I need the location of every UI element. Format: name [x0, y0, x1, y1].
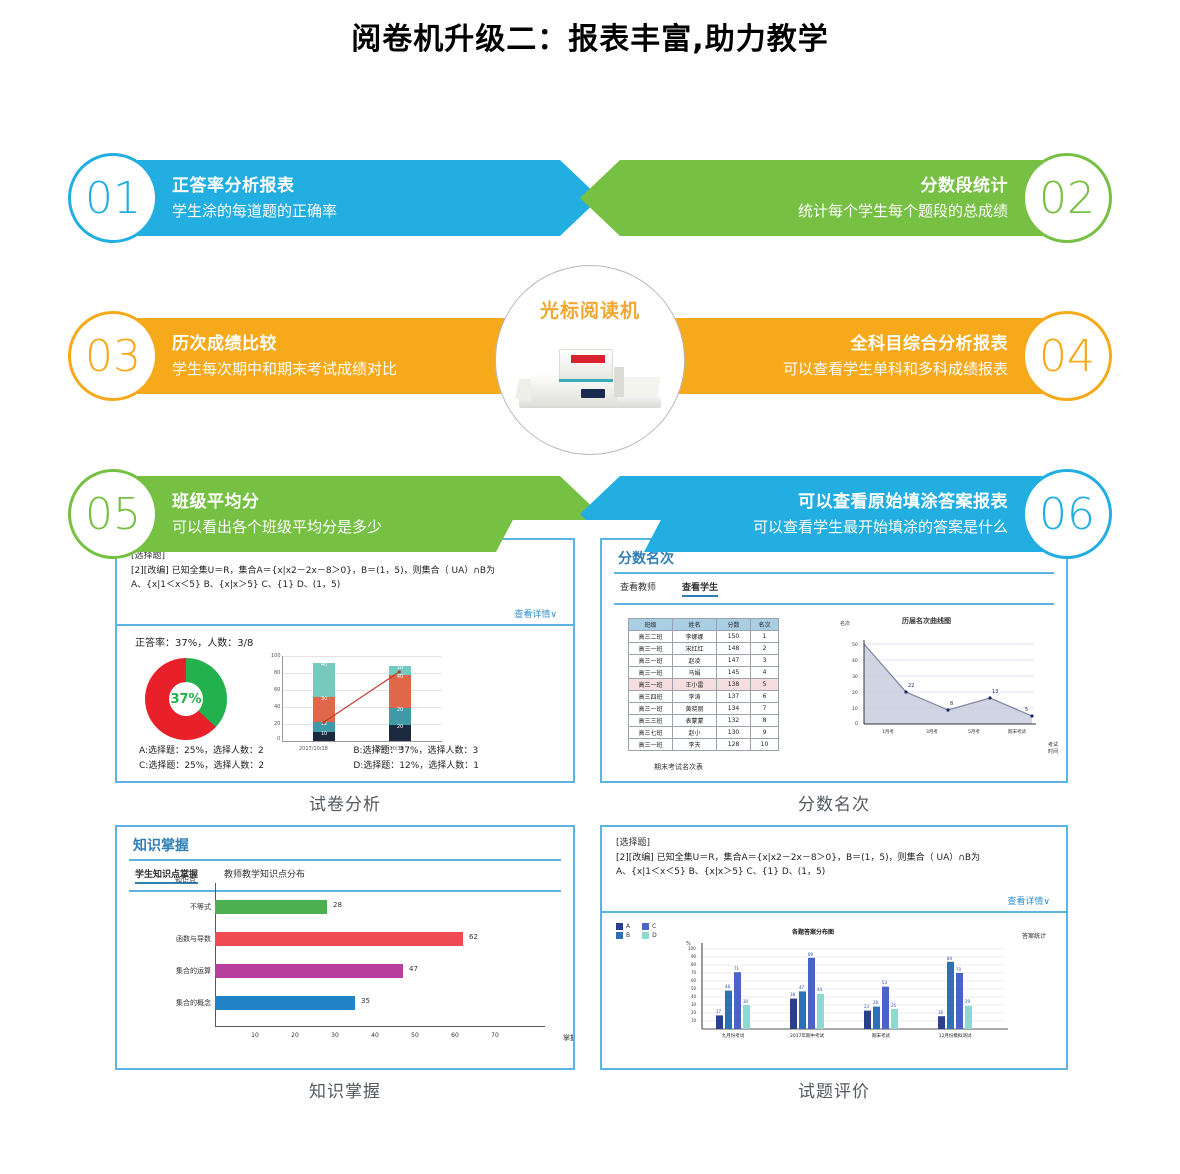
bar-label-3: 集合的概念	[137, 998, 211, 1008]
trend-line	[283, 656, 442, 741]
panel-knowledge-mastery[interactable]: 知识掌握 学生知识点掌握 教师教学知识点分布 知识点 不等式 28 函数与导数 …	[115, 825, 575, 1102]
option-d: D:选择题：12%，选择人数：1	[353, 759, 567, 774]
donut-chart: 37%	[145, 658, 227, 740]
svg-text:53: 53	[882, 980, 888, 985]
bar-fill-3	[215, 996, 355, 1010]
table-row: 高三一班马娟1454	[629, 667, 779, 679]
panel-caption-knowledge-mastery: 知识掌握	[115, 1077, 575, 1102]
view-detail-link[interactable]: 查看详情∨	[514, 607, 557, 620]
svg-text:38: 38	[790, 992, 796, 997]
option-row: C:选择题：25%，选择人数：2 D:选择题：12%，选择人数：1	[139, 759, 568, 774]
svg-text:70: 70	[691, 970, 697, 975]
feature-number-01: 01	[68, 153, 158, 243]
svg-text:71: 71	[734, 966, 740, 971]
svg-text:0: 0	[855, 721, 858, 727]
area-x-label: 考试时间	[1048, 741, 1058, 755]
svg-text:5月考: 5月考	[968, 729, 980, 735]
svg-text:12月份模拟测试: 12月份模拟测试	[939, 1032, 972, 1039]
screenshot-paper-analysis: [选择题] [2][改编] 已知全集U＝R，集合A＝{x|x2－2x－8＞0}，…	[115, 538, 575, 783]
bar-row-1: 函数与导数 62	[215, 929, 545, 955]
view-detail-link[interactable]: 查看详情∨	[1007, 894, 1050, 907]
th-rank: 名次	[751, 619, 779, 631]
bar-value-2: 47	[409, 965, 418, 973]
table-caption: 期末考试名次表	[654, 762, 703, 772]
feature-title-04: 全科目综合分析报表	[851, 332, 1009, 358]
screenshot-score-rank: 分数名次 查看教师 查看学生 班级 姓名 分数 名次 高三二班李娜娜1501 高…	[600, 538, 1068, 783]
svg-text:22: 22	[908, 683, 914, 689]
panel-caption-question-evaluation: 试题评价	[600, 1077, 1068, 1102]
bar-x-axis	[215, 1026, 545, 1027]
table-row: 高三三班表蒙蒙1328	[629, 715, 779, 727]
svg-text:60: 60	[691, 978, 697, 983]
svg-text:80: 80	[691, 962, 697, 967]
svg-text:25: 25	[891, 1003, 897, 1008]
question-header: [选择题] [2][改编] 已知全集U＝R，集合A＝{x|x2－2x－8＞0}，…	[602, 827, 1066, 913]
donut-center-label: 37%	[170, 692, 201, 707]
correct-rate-stat: 正答率：37%，人数：3/8	[117, 626, 573, 649]
feature-banner-05: 班级平均分 可以看出各个班级平均分是多少	[136, 476, 536, 552]
svg-text:10: 10	[852, 706, 858, 712]
feature-item-06[interactable]: 06 可以查看原始填涂答案报表 可以查看学生最开始填涂的答案是什么	[644, 468, 1112, 560]
feature-item-04[interactable]: 04 全科目综合分析报表 可以查看学生单科和多科成绩报表	[644, 310, 1112, 402]
table-row: 高三一班赵凌1473	[629, 655, 779, 667]
svg-text:89: 89	[808, 952, 814, 957]
screenshot-question-evaluation: [选择题] [2][改编] 已知全集U＝R，集合A＝{x|x2－2x－8＞0}，…	[600, 825, 1068, 1070]
svg-text:期末考试: 期末考试	[1008, 728, 1026, 735]
bar-label-0: 不等式	[137, 902, 211, 912]
tab-bar: 查看教师 查看学生	[602, 574, 1066, 601]
feature-item-01[interactable]: 01 正答率分析报表 学生涂的每道题的正确率	[68, 152, 536, 244]
svg-text:50: 50	[852, 642, 858, 648]
bar-label-2: 集合的运算	[137, 966, 211, 976]
svg-text:30: 30	[852, 674, 858, 680]
table-row: 高三一班李天12810	[629, 739, 779, 751]
svg-text:30: 30	[743, 999, 749, 1004]
panel-paper-analysis[interactable]: [选择题] [2][改编] 已知全集U＝R，集合A＝{x|x2－2x－8＞0}，…	[115, 538, 575, 815]
feature-banner-03: 历次成绩比较 学生每次期中和期末考试成绩对比	[136, 318, 536, 394]
divider	[614, 603, 1054, 605]
feature-item-05[interactable]: 05 班级平均分 可以看出各个班级平均分是多少	[68, 468, 536, 560]
bar-fill-2	[215, 964, 403, 978]
feature-banner-01: 正答率分析报表 学生涂的每道题的正确率	[136, 160, 536, 236]
bar-value-3: 35	[361, 997, 370, 1005]
svg-text:5: 5	[1025, 707, 1028, 713]
table-row: 高三一班黄晓丽1347	[629, 703, 779, 715]
feature-sub-06: 可以查看学生最开始填涂的答案是什么	[753, 516, 1008, 539]
feature-title-02: 分数段统计	[921, 174, 1009, 200]
feature-sub-01: 学生涂的每道题的正确率	[172, 200, 518, 223]
stacked-bar-chart: 100 80 60 40 20 0 10 12 30 40 20 20 40 1…	[282, 656, 442, 742]
svg-text:2017年期中考试: 2017年期中考试	[790, 1032, 824, 1039]
knowledge-title: 知识掌握	[117, 827, 573, 859]
th-class: 班级	[629, 619, 673, 631]
feature-sub-04: 可以查看学生单科和多科成绩报表	[783, 358, 1008, 381]
infographic: 光标阅读机 01 正答率分析报表 学生涂的每道题的正确率 02 分数段统计 统计…	[0, 60, 1180, 520]
svg-text:28: 28	[873, 1000, 879, 1005]
svg-text:20: 20	[691, 1010, 697, 1015]
screenshot-gallery: [选择题] [2][改编] 已知全集U＝R，集合A＝{x|x2－2x－8＞0}，…	[0, 530, 1180, 1150]
knowledge-bar-chart: 知识点 不等式 28 函数与导数 62 集合的运算 47	[215, 897, 545, 1027]
page-title: 阅卷机升级二：报表丰富,助力教学	[0, 0, 1180, 60]
svg-text:40: 40	[852, 658, 858, 664]
svg-text:30: 30	[691, 1002, 697, 1007]
svg-text:3月考: 3月考	[926, 729, 938, 735]
legend-item-a: A	[616, 923, 630, 930]
area-chart-title: 历届名次曲线图	[902, 616, 951, 626]
svg-text:10: 10	[691, 1018, 697, 1023]
table-row: 高三一班宋红红1482	[629, 643, 779, 655]
feature-banner-04: 全科目综合分析报表 可以查看学生单科和多科成绩报表	[644, 318, 1044, 394]
bar-row-2: 集合的运算 47	[215, 961, 545, 987]
svg-text:44: 44	[817, 987, 823, 992]
svg-text:23: 23	[864, 1004, 870, 1009]
question-tag: [选择题]	[616, 835, 1052, 848]
feature-banner-02: 分数段统计 统计每个学生每个题段的总成绩	[644, 160, 1044, 236]
question-line-2: A、{x|1＜x＜5} B、{x|x＞5} C、{1} D、(1，5)	[616, 865, 1052, 879]
svg-text:100: 100	[688, 946, 696, 951]
legend-item-c: C	[642, 923, 657, 930]
feature-number-04: 04	[1022, 311, 1112, 401]
option-row: A:选择题：25%，选择人数：2 B:选择题：37%，选择人数：3	[139, 744, 568, 759]
feature-title-06: 可以查看原始填涂答案报表	[798, 490, 1008, 516]
divider	[129, 890, 561, 892]
feature-sub-03: 学生每次期中和期末考试成绩对比	[172, 358, 518, 381]
bar-label-1: 函数与导数	[137, 934, 211, 944]
rank-table: 班级 姓名 分数 名次 高三二班李娜娜1501 高三一班宋红红1482 高三一班…	[628, 618, 779, 751]
table-row: 高三七班赵小1309	[629, 727, 779, 739]
legend-item-d: D	[642, 932, 657, 939]
tab-view-student[interactable]: 查看学生	[682, 580, 718, 597]
svg-text:16: 16	[938, 1010, 944, 1015]
th-name: 姓名	[673, 619, 717, 631]
feature-title-01: 正答率分析报表	[172, 174, 518, 200]
panel-caption-score-rank: 分数名次	[600, 790, 1068, 815]
feature-banner-06: 可以查看原始填涂答案报表 可以查看学生最开始填涂的答案是什么	[644, 476, 1044, 552]
bar-value-1: 62	[469, 933, 478, 941]
svg-text:8: 8	[950, 701, 953, 707]
rank-trend-area-chart: 22 8 13 5 50 40 30 20 10 0 1月考 3月考 5月考 期…	[848, 632, 1038, 737]
bar-value-0: 28	[333, 901, 342, 909]
question-line-1: [2][改编] 已知全集U＝R，集合A＝{x|x2－2x－8＞0}，B＝(1，5…	[616, 851, 1052, 865]
bar-x-label: 掌握情况	[563, 1033, 575, 1043]
bar-row-0: 不等式 28	[215, 897, 545, 923]
bar-fill-0	[215, 900, 327, 914]
feature-item-03[interactable]: 03 历次成绩比较 学生每次期中和期末考试成绩对比	[68, 310, 536, 402]
feature-number-05: 05	[68, 469, 158, 559]
svg-text:48: 48	[725, 984, 731, 989]
svg-text:20: 20	[852, 690, 858, 696]
tab-view-teacher[interactable]: 查看教师	[620, 580, 656, 597]
feature-item-02[interactable]: 02 分数段统计 统计每个学生每个题段的总成绩	[644, 152, 1112, 244]
grouped-chart-note: 答案统计	[1022, 931, 1046, 940]
scanner-machine-icon	[515, 341, 665, 421]
feature-title-03: 历次成绩比较	[172, 332, 518, 358]
feature-sub-05: 可以看出各个班级平均分是多少	[172, 516, 518, 539]
chart-legend: A C B D	[616, 923, 657, 939]
feature-title-05: 班级平均分	[172, 490, 518, 516]
svg-text:47: 47	[799, 985, 805, 990]
tab-teacher-knowledge[interactable]: 教师教学知识点分布	[224, 867, 305, 884]
table-row-highlighted: 高三一班王小雷1385	[629, 679, 779, 691]
bar-fill-1	[215, 932, 463, 946]
option-stats: A:选择题：25%，选择人数：2 B:选择题：37%，选择人数：3 C:选择题：…	[139, 744, 568, 775]
feature-number-06: 06	[1022, 469, 1112, 559]
panel-question-evaluation[interactable]: [选择题] [2][改编] 已知全集U＝R，集合A＝{x|x2－2x－8＞0}，…	[600, 825, 1068, 1102]
option-c: C:选择题：25%，选择人数：2	[139, 759, 353, 774]
table-row: 高三四班李涛1376	[629, 691, 779, 703]
svg-text:70: 70	[956, 967, 962, 972]
table-row: 高三二班李娜娜1501	[629, 631, 779, 643]
area-y-label: 名次	[840, 620, 850, 627]
question-line-1: [2][改编] 已知全集U＝R，集合A＝{x|x2－2x－8＞0}，B＝(1，5…	[131, 564, 559, 578]
question-line-2: A、{x|1＜x＜5} B、{x|x＞5} C、{1} D、(1，5)	[131, 578, 559, 592]
bar-row-3: 集合的概念 35	[215, 993, 545, 1019]
feature-sub-02: 统计每个学生每个题段的总成绩	[798, 200, 1008, 223]
screenshot-knowledge-mastery: 知识掌握 学生知识点掌握 教师教学知识点分布 知识点 不等式 28 函数与导数 …	[115, 825, 575, 1070]
option-b: B:选择题：37%，选择人数：3	[353, 744, 567, 759]
center-device-circle: 光标阅读机	[495, 265, 685, 455]
panel-score-rank[interactable]: 分数名次 查看教师 查看学生 班级 姓名 分数 名次 高三二班李娜娜1501 高…	[600, 538, 1068, 815]
svg-text:九月份考试: 九月份考试	[722, 1032, 745, 1039]
svg-text:90: 90	[691, 954, 697, 959]
center-device-label: 光标阅读机	[540, 296, 640, 323]
svg-text:13: 13	[992, 689, 998, 695]
svg-text:50: 50	[691, 986, 697, 991]
feature-number-02: 02	[1022, 153, 1112, 243]
svg-text:17: 17	[716, 1009, 722, 1014]
table-header-row: 班级 姓名 分数 名次	[629, 619, 779, 631]
legend-item-b: B	[616, 932, 630, 939]
svg-text:1月考: 1月考	[882, 729, 894, 735]
bar-y-label: 知识点	[175, 875, 196, 885]
svg-text:期末考试: 期末考试	[872, 1032, 890, 1039]
panel-caption-paper-analysis: 试卷分析	[115, 790, 575, 815]
svg-text:29: 29	[965, 999, 971, 1004]
answer-distribution-chart: % 100 90 80 70 60 50 40 30	[680, 935, 1010, 1045]
option-a: A:选择题：25%，选择人数：2	[139, 744, 353, 759]
th-score: 分数	[717, 619, 751, 631]
svg-text:40: 40	[691, 994, 697, 999]
feature-number-03: 03	[68, 311, 158, 401]
svg-text:84: 84	[947, 956, 953, 961]
